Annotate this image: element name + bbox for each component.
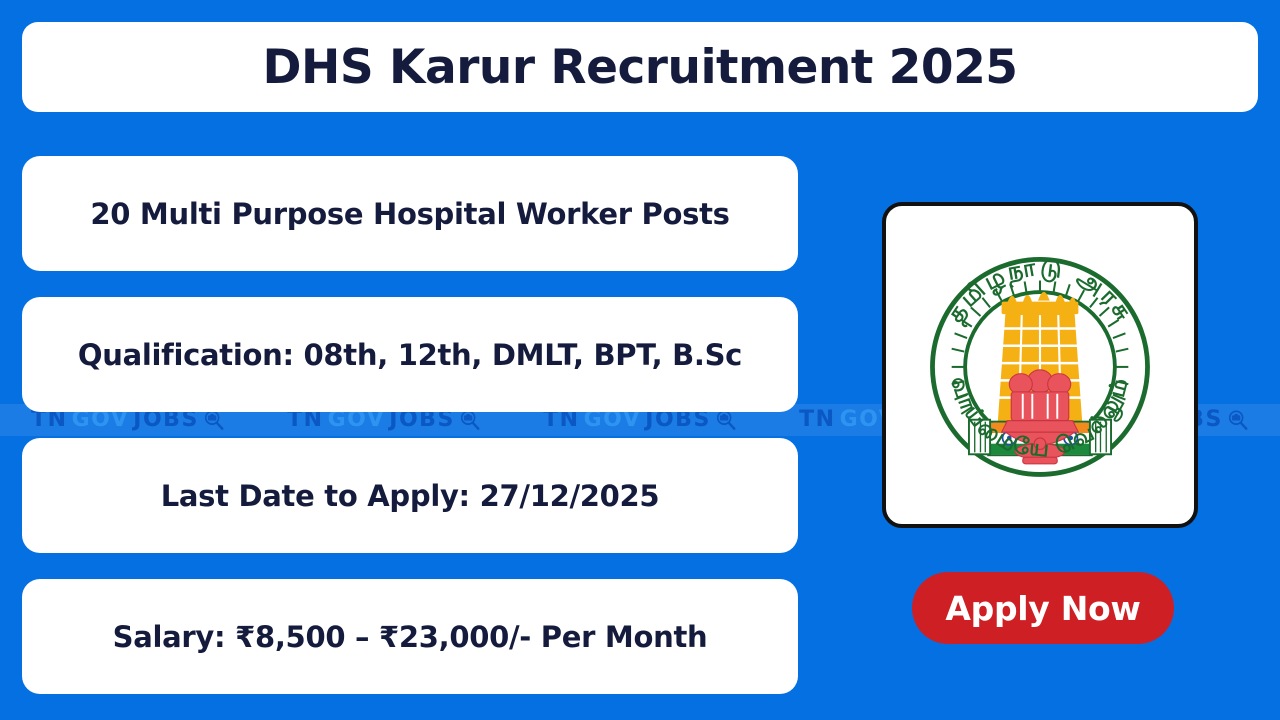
page-title: DHS Karur Recruitment 2025 bbox=[263, 40, 1018, 95]
info-card-posts-text: 20 Multi Purpose Hospital Worker Posts bbox=[90, 197, 729, 231]
tamil-nadu-government-emblem-icon: தமிழ்நாடு அரசு வாய்மையே வெல்லும் bbox=[904, 221, 1176, 509]
info-card-qualification: Qualification: 08th, 12th, DMLT, BPT, B.… bbox=[22, 297, 798, 412]
info-card-salary: Salary: ₹8,500 – ₹23,000/- Per Month bbox=[22, 579, 798, 694]
briefcase-search-icon bbox=[1227, 409, 1249, 431]
title-card: DHS Karur Recruitment 2025 bbox=[22, 22, 1258, 112]
info-card-salary-text: Salary: ₹8,500 – ₹23,000/- Per Month bbox=[113, 620, 708, 654]
watermark-text-tn: TN bbox=[799, 409, 835, 431]
apply-now-button[interactable]: Apply Now bbox=[912, 572, 1174, 644]
logo-box: தமிழ்நாடு அரசு வாய்மையே வெல்லும் bbox=[882, 202, 1198, 528]
info-card-last-date-text: Last Date to Apply: 27/12/2025 bbox=[161, 479, 660, 513]
info-card-posts: 20 Multi Purpose Hospital Worker Posts bbox=[22, 156, 798, 271]
info-card-last-date: Last Date to Apply: 27/12/2025 bbox=[22, 438, 798, 553]
info-card-qualification-text: Qualification: 08th, 12th, DMLT, BPT, B.… bbox=[78, 338, 742, 372]
info-card-list: 20 Multi Purpose Hospital Worker Posts Q… bbox=[22, 156, 798, 694]
